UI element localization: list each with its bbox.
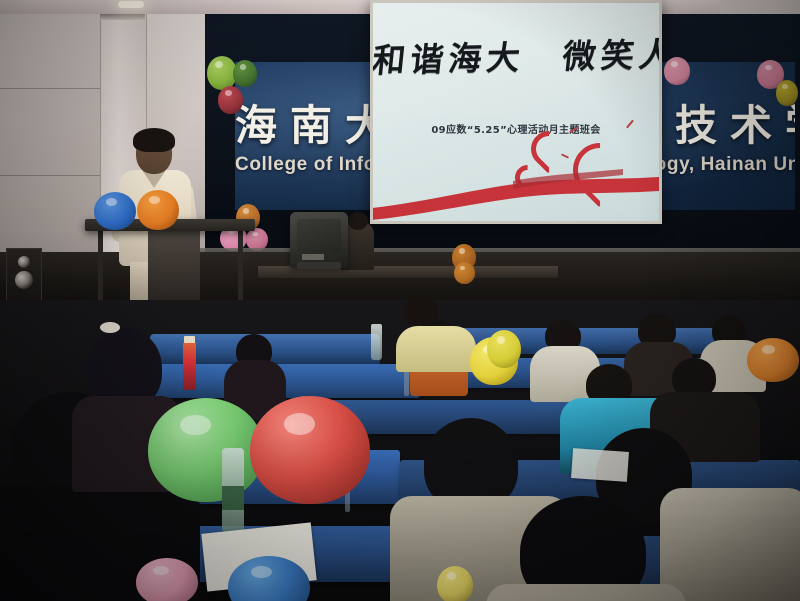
balloon-pink-bottom-left [136, 558, 198, 601]
balloon-blue-podium [94, 192, 136, 230]
hair-clip [100, 322, 120, 333]
balloon-orange-right [747, 338, 799, 382]
audience-head [404, 296, 438, 326]
crt-monitor-screen [297, 219, 341, 253]
balloon-red-left [218, 86, 243, 114]
projection-screen: 和谐海大 微笑人生 09应数“5.25”心理活动月主题班会 [373, 3, 659, 221]
auditorium-photograph: 海南大学信息科学技术学院 College of Information Scie… [0, 0, 800, 601]
audience-torso-white-right [660, 488, 800, 601]
seated-operator-head [348, 212, 368, 230]
balloon-pink-right-a [664, 57, 690, 85]
crt-monitor-badge [302, 254, 324, 260]
audience-area [0, 300, 800, 601]
balloon-darkgreen-left [233, 60, 257, 87]
bottle-cap [184, 336, 195, 343]
red-drink-bottle [183, 342, 196, 390]
speaker-woofer-icon [15, 271, 33, 289]
balloon-red-foreground [250, 396, 370, 504]
balloon-orange-podium [137, 190, 179, 230]
bottle-label [222, 486, 244, 510]
balloon-yellow-bottom [437, 566, 473, 601]
ceiling-light [118, 1, 144, 8]
water-bottle-rear-left [371, 324, 382, 360]
presenter-hair [133, 128, 175, 152]
projection-screen-frame: 和谐海大 微笑人生 09应数“5.25”心理活动月主题班会 [370, 0, 662, 224]
slide-title-calligraphy: 和谐海大 微笑人生 [373, 28, 659, 82]
crt-monitor-base [297, 262, 341, 269]
slide-subtitle: 09应数“5.25”心理活动月主题班会 [373, 121, 659, 136]
ribbon-svg [373, 163, 659, 221]
paper-sheet-right [571, 448, 629, 482]
balloon-green-foreground [148, 398, 264, 502]
audience-torso-bottom-center [486, 584, 686, 601]
balloon-orange-stage-right-b [454, 262, 475, 284]
audience-torso-yellow [396, 326, 476, 372]
balloon-yellow-right [776, 80, 798, 106]
pa-loudspeaker [6, 248, 42, 302]
red-ribbon-graphic [373, 163, 659, 221]
balloon-yellow-stage-right [487, 330, 521, 368]
speaker-tweeter-icon [18, 256, 30, 268]
heart-outline-medium [531, 131, 557, 157]
